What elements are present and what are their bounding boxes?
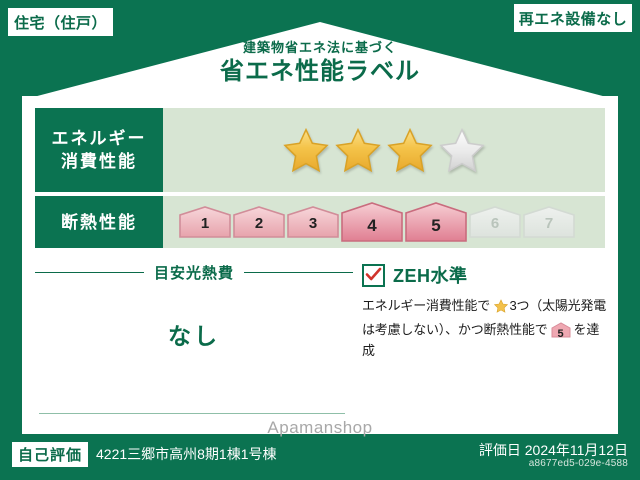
row-energy-performance: エネルギー 消費性能 xyxy=(35,108,605,192)
insulation-level-4: 4 xyxy=(341,202,403,242)
utility-cost-value: なし xyxy=(35,317,353,351)
row-insulation-performance: 断熱性能 1234567 xyxy=(35,196,605,248)
zeh-desc-star-count: 3つ（太陽光発電 xyxy=(509,298,606,313)
utility-cost-title: 目安光熱費 xyxy=(144,262,244,283)
title-block: 建築物省エネ法に基づく 省エネ性能ラベル xyxy=(0,40,640,87)
divider-right xyxy=(244,272,353,273)
insulation-level-6: 6 xyxy=(469,206,521,238)
insulation-performance-label: 断熱性能 xyxy=(35,196,163,248)
energy-label-board: 住宅（住戸） 再エネ設備なし 建築物省エネ法に基づく 省エネ性能ラベル エネルギ… xyxy=(0,0,640,480)
star-filled-icon xyxy=(335,127,381,173)
zeh-checkbox[interactable] xyxy=(362,264,385,287)
divider-bottom xyxy=(39,413,345,414)
insulation-level-scale: 1234567 xyxy=(163,196,605,248)
insulation-level-3: 3 xyxy=(287,206,339,238)
zeh-title: ZEH水準 xyxy=(393,262,468,288)
energy-label-line2: 消費性能 xyxy=(61,150,137,173)
utility-cost-panel: 目安光熱費 なし xyxy=(35,256,353,426)
label-card: エネルギー 消費性能 断熱性能 1234567 目安光熱費 なし xyxy=(22,96,618,434)
star-filled-icon xyxy=(283,127,329,173)
energy-star-rating xyxy=(163,108,605,192)
page-title: 省エネ性能ラベル xyxy=(0,57,640,87)
divider-left xyxy=(35,272,144,273)
zeh-description: エネルギー消費性能で 3つ（太陽光発電 は考慮しない）、かつ断熱性能で 5を達成 xyxy=(362,295,610,361)
evaluation-id: a8677ed5-029e-4588 xyxy=(529,458,628,469)
zeh-desc-part2: は考慮しない）、かつ断熱性能で xyxy=(362,322,548,337)
badge-renewable-energy: 再エネ設備なし xyxy=(514,4,632,32)
star-filled-icon xyxy=(387,127,433,173)
inline-star-icon xyxy=(491,301,508,316)
star-empty-icon xyxy=(439,127,485,173)
zeh-desc-part1: エネルギー消費性能で xyxy=(362,298,490,313)
zeh-header: ZEH水準 xyxy=(362,262,610,288)
zeh-panel: ZEH水準 エネルギー消費性能で 3つ（太陽光発電 は考慮しない）、かつ断熱性能… xyxy=(362,262,610,361)
insulation-level-2: 2 xyxy=(233,206,285,238)
insulation-level-1: 1 xyxy=(179,206,231,238)
insulation-level-7: 7 xyxy=(523,206,575,238)
property-address: 4221三郷市高州8期1棟1号棟 xyxy=(96,444,277,464)
utility-cost-header: 目安光熱費 xyxy=(35,262,353,283)
evaluation-date: 評価日 2024年11月12日 xyxy=(479,440,628,460)
insulation-label-text: 断熱性能 xyxy=(61,211,137,234)
inline-insulation-badge: 5 xyxy=(551,322,571,337)
label-subtitle: 建築物省エネ法に基づく xyxy=(0,40,640,56)
insulation-level-5: 5 xyxy=(405,202,467,242)
energy-label-line1: エネルギー xyxy=(52,127,147,150)
lower-section: 目安光熱費 なし ZEH水準 エネルギー消費性能で xyxy=(22,256,618,434)
energy-performance-label: エネルギー 消費性能 xyxy=(35,108,163,192)
footer-bar: 自己評価 4221三郷市高州8期1棟1号棟 評価日 2024年11月12日 a8… xyxy=(0,434,640,480)
inline-badge-value: 5 xyxy=(558,328,564,340)
self-evaluation-badge: 自己評価 xyxy=(12,442,88,467)
badge-housing-type: 住宅（住戸） xyxy=(8,8,113,36)
